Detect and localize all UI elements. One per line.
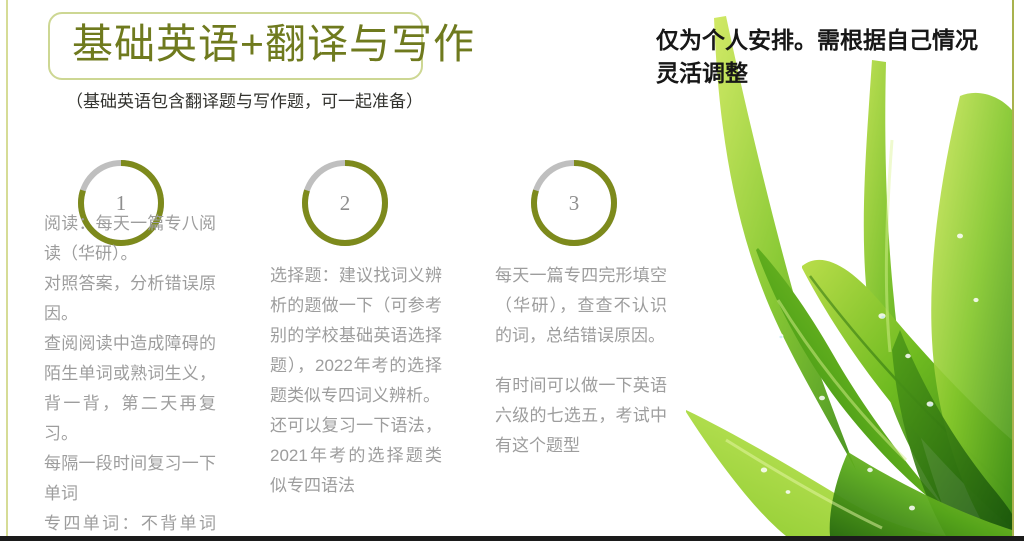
- step-ring-3: 3: [528, 157, 620, 249]
- page-subtitle: （基础英语包含翻译题与写作题，可一起准备）: [66, 89, 423, 115]
- step-body-2: 选择题：建议找词义辨析的题做一下（可参考别的学校基础英语选择题），2022年考的…: [270, 261, 442, 501]
- personal-note: 仅为个人安排。需根据自己情况灵活调整: [656, 24, 986, 90]
- page-title: 基础英语+翻译与写作: [72, 16, 492, 72]
- step-number-3: 3: [528, 157, 620, 249]
- step-number-2: 2: [299, 157, 391, 249]
- step-body-3: 每天一篇专四完形填空（华研），查查不认识的词，总结错误原因。: [495, 261, 667, 351]
- step-ring-2: 2: [299, 157, 391, 249]
- slide-canvas: 基础英语+翻译与写作 （基础英语包含翻译题与写作题，可一起准备） 仅为个人安排。…: [0, 0, 1024, 541]
- left-border-rule: [6, 0, 8, 541]
- step-body-1: 阅读：每天一篇专八阅读（华研）。 对照答案，分析错误原因。 查阅阅读中造成障碍的…: [44, 209, 216, 541]
- right-border-rule: [1012, 0, 1014, 541]
- step-body-3-secondary: 有时间可以做一下英语六级的七选五，考试中有这个题型: [495, 371, 667, 461]
